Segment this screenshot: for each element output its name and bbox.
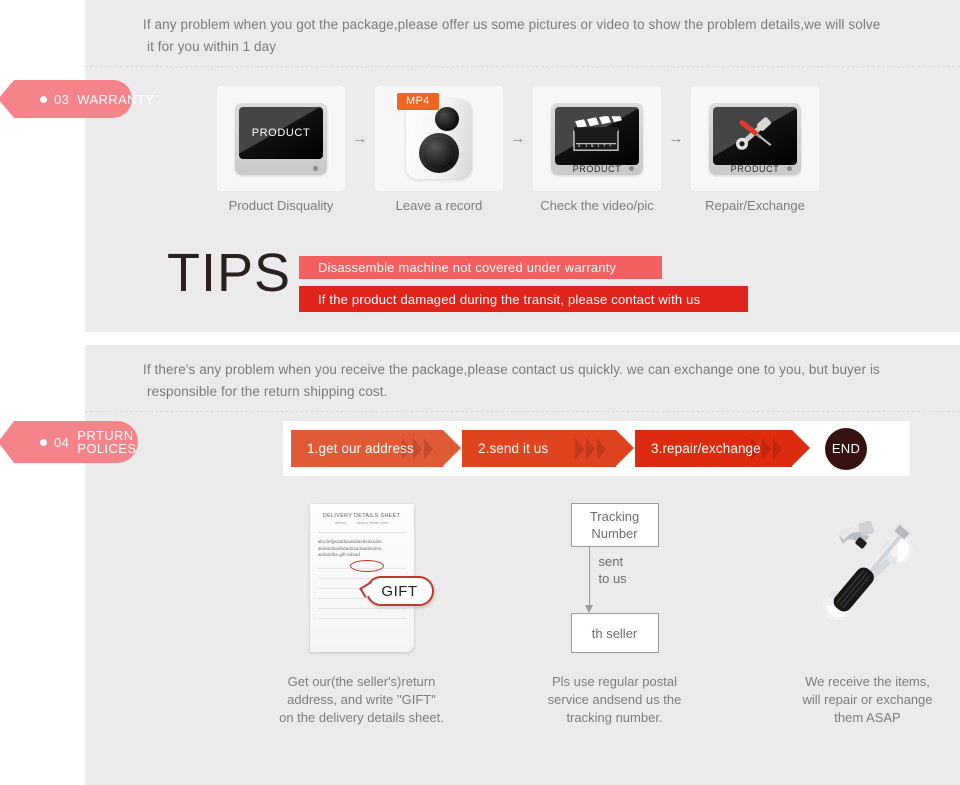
chevron-right-icon <box>424 438 433 460</box>
monitor-tools-icon: PRODUCT <box>709 103 801 175</box>
process-step-3[interactable]: 3.repair/exchange <box>635 430 792 467</box>
speaker-tweeter-icon <box>435 107 459 131</box>
return-columns: DELIVERY DETAILS SHEET delivery delivery… <box>235 493 960 727</box>
repair-caption: We receive the items, will repair or exc… <box>802 673 932 727</box>
arrowhead-down-icon <box>585 605 593 613</box>
monitor-screen-text: PRODUCT <box>252 127 311 139</box>
warranty-step-2-caption: Leave a record <box>375 198 503 213</box>
delivery-sheet-art: DELIVERY DETAILS SHEET delivery delivery… <box>310 493 414 663</box>
sheet-text-line: asdasdsa gift sdsad <box>318 552 406 559</box>
warranty-step-flow: PRODUCT Product Disquality → MP4 Leave a… <box>217 86 819 191</box>
process-step-1[interactable]: 1.get our address <box>291 430 443 467</box>
caption-line: will repair or exchange <box>802 691 932 709</box>
flow-label-line1: sent <box>599 554 624 569</box>
tips-bar-2: If the product damaged during the transi… <box>299 286 748 312</box>
flow-line <box>589 547 590 605</box>
chevron-group-icon <box>575 430 606 467</box>
arrow-tip-icon <box>616 430 634 466</box>
monitor-screen: PRODUCT <box>239 107 323 159</box>
monitor-screen <box>713 107 797 165</box>
tracking-box-line2: Number <box>591 526 637 541</box>
return-intro-line1: If there's any problem when you receive … <box>143 362 880 377</box>
monitor-clapperboard-icon: XI NI TY PRODUCT <box>551 103 643 175</box>
return-tag-label: PRTURN POLICES <box>77 429 136 455</box>
warranty-step-1: PRODUCT Product Disquality → <box>217 86 375 191</box>
step-arrow-icon-2: → <box>503 86 533 191</box>
process-step-3-label: 3.repair/exchange <box>651 441 761 456</box>
flow-label-line2: to us <box>599 571 627 586</box>
svg-text:I: I <box>585 145 587 149</box>
return-policy-panel: If there's any problem when you receive … <box>85 345 960 785</box>
svg-text:I: I <box>597 145 599 149</box>
process-end-badge: END <box>825 428 867 470</box>
arrow-tip-icon <box>443 430 461 466</box>
warranty-intro: If any problem when you got the package,… <box>143 14 940 58</box>
tracking-number-flow: Tracking Number sent to us <box>571 503 659 653</box>
caption-line: Pls use regular postal <box>548 673 682 691</box>
delivery-sheet-caption: Get our(the seller's)return address, and… <box>279 673 444 727</box>
step-arrow-icon-1: → <box>345 86 375 191</box>
sheet-rule <box>318 532 406 533</box>
warranty-tag-label: WARRANTY <box>77 93 154 106</box>
tips-heading: TIPS <box>167 242 291 304</box>
step-card-repair-exchange: PRODUCT Repair/Exchange <box>691 86 819 191</box>
monitor-base-text: PRODUCT <box>551 164 643 174</box>
flow-arrow-down-icon: sent to us <box>571 547 659 613</box>
sheet-subtitle-right: delivery details sheet <box>357 521 389 525</box>
tracking-number-box: Tracking Number <box>571 503 659 547</box>
return-intro: If there's any problem when you receive … <box>143 359 940 403</box>
process-step-1-label: 1.get our address <box>307 441 414 456</box>
mp4-badge: MP4 <box>397 93 439 110</box>
screwdriver-wrench-icon <box>728 112 782 152</box>
step-card-leave-a-record: MP4 Leave a record <box>375 86 503 191</box>
caption-line: service andsend us the <box>548 691 682 709</box>
process-step-2[interactable]: 2.send it us <box>462 430 616 467</box>
sheet-text-lines: abcdefgsaddsadsdasdsdsadsi asdasdsadsdad… <box>318 539 406 559</box>
chevron-right-icon <box>762 438 771 460</box>
monitor-base-text: PRODUCT <box>709 164 801 174</box>
return-intro-line2: responsible for the return shipping cost… <box>143 381 940 403</box>
warranty-step-4: PRODUCT Repair/Exchange <box>691 86 819 191</box>
warranty-divider <box>85 66 960 67</box>
monitor-screen: XI NI TY <box>555 107 639 165</box>
caption-line: Get our(the seller's)return <box>279 673 444 691</box>
process-step-2-label: 2.send it us <box>478 441 548 456</box>
monitor-led-icon <box>313 166 318 171</box>
warranty-step-4-caption: Repair/Exchange <box>691 198 819 213</box>
gift-highlight-ellipse-icon <box>350 560 384 572</box>
clapperboard-icon: XI NI TY <box>570 116 624 152</box>
section-tag-return-polices: 04 PRTURN POLICES <box>14 421 138 463</box>
flow-arrow-label: sent to us <box>599 553 627 587</box>
tracking-box-line1: Tracking <box>590 509 639 524</box>
delivery-details-sheet-icon: DELIVERY DETAILS SHEET delivery delivery… <box>310 504 414 652</box>
sheet-blank-rule <box>318 608 406 609</box>
caption-line: We receive the items, <box>802 673 932 691</box>
warranty-step-1-caption: Product Disquality <box>217 198 345 213</box>
chevron-right-icon <box>586 438 595 460</box>
sheet-title: DELIVERY DETAILS SHEET <box>318 513 406 519</box>
warranty-intro-line2: it for you within 1 day <box>143 36 940 58</box>
return-divider <box>85 411 960 412</box>
warranty-step-2: MP4 Leave a record → <box>375 86 533 191</box>
warranty-intro-line1: If any problem when you got the package,… <box>143 17 880 32</box>
monitor-product-icon: PRODUCT <box>235 103 327 175</box>
caption-line: address, and write "GIFT" <box>279 691 444 709</box>
sheet-subtitle: delivery delivery details sheet <box>318 521 406 525</box>
caption-line: tracking number. <box>548 709 682 727</box>
step-card-check-the-video: XI NI TY PRODUCT Check the vide <box>533 86 661 191</box>
arrow-tip-icon <box>792 430 810 466</box>
return-tag-number: 04 <box>54 435 69 450</box>
gift-callout-bubble: GIFT <box>366 576 434 606</box>
seller-box: th seller <box>571 613 659 653</box>
page-root: If any problem when you got the package,… <box>0 0 960 785</box>
warranty-tag-number: 03 <box>54 92 69 107</box>
chevron-right-icon <box>773 438 782 460</box>
hammer-wrench-screwdriver-icon <box>803 513 933 643</box>
warranty-step-3-caption: Check the video/pic <box>533 198 661 213</box>
return-process-bar: 1.get our address 2.send it us 3.r <box>283 421 910 476</box>
tracking-flow-art: Tracking Number sent to us <box>571 493 659 663</box>
speaker-woofer-icon <box>419 133 459 173</box>
tracking-caption: Pls use regular postal service andsend u… <box>548 673 682 727</box>
sheet-subtitle-left: delivery <box>335 521 347 525</box>
return-tag-label-line2: POLICES <box>77 442 136 455</box>
step-arrow-icon-3: → <box>661 86 691 191</box>
caption-line: them ASAP <box>802 709 932 727</box>
caption-line: on the delivery details sheet. <box>279 709 444 727</box>
chevron-right-icon <box>597 438 606 460</box>
bullet-dot-icon <box>40 439 47 446</box>
section-tag-warranty: 03 WARRANTY <box>14 80 132 118</box>
step-card-product-disquality: PRODUCT Product Disquality <box>217 86 345 191</box>
return-column-delivery-sheet: DELIVERY DETAILS SHEET delivery delivery… <box>235 493 488 727</box>
chevron-right-icon <box>413 438 422 460</box>
return-column-tracking: Tracking Number sent to us <box>488 493 741 727</box>
sheet-blank-rule <box>318 618 406 619</box>
warranty-panel: If any problem when you got the package,… <box>85 0 960 332</box>
return-column-repair: We receive the items, will repair or exc… <box>741 493 960 727</box>
tips-bar-1: Disassemble machine not covered under wa… <box>299 256 662 279</box>
bullet-dot-icon <box>40 96 47 103</box>
mp4-speaker-icon: MP4 <box>406 99 472 179</box>
repair-tools-art <box>803 493 933 663</box>
chevron-right-icon <box>575 438 584 460</box>
warranty-step-3: XI NI TY PRODUCT Check the vide <box>533 86 691 191</box>
